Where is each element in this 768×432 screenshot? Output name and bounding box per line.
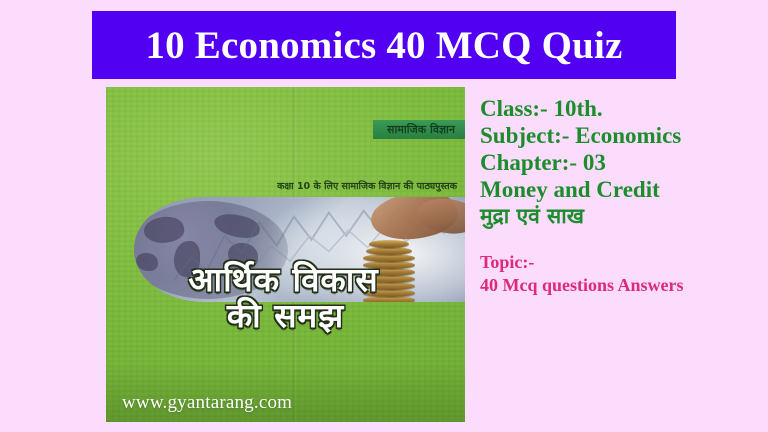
cover-subtitle: कक्षा 10 के लिए सामाजिक विज्ञान की पाठ्य… bbox=[106, 179, 457, 192]
info-line-chapter: Chapter:- 03 bbox=[480, 149, 764, 176]
info-line-chapter-name: Money and Credit bbox=[480, 176, 764, 203]
cover-subject-label: सामाजिक विज्ञान bbox=[387, 122, 455, 137]
topic-block: Topic:- 40 Mcq questions Answers bbox=[480, 251, 764, 296]
topic-value: 40 Mcq questions Answers bbox=[480, 274, 764, 297]
cover-subject-band: सामाजिक विज्ञान bbox=[373, 120, 465, 139]
coin-icon bbox=[369, 240, 409, 248]
book-cover-image: सामाजिक विज्ञान कक्षा 10 के लिए सामाजिक … bbox=[106, 87, 465, 422]
coin-icon bbox=[366, 247, 412, 255]
cover-title: आर्थिक विकास की समझ bbox=[106, 262, 465, 333]
info-line-subject: Subject:- Economics bbox=[480, 122, 764, 149]
info-line-chapter-name-hindi: मुद्रा एवं साख bbox=[480, 204, 764, 230]
watermark-url: www.gyantarang.com bbox=[122, 392, 292, 414]
info-line-class: Class:- 10th. bbox=[480, 95, 764, 122]
cover-title-line-1: आर्थिक विकास bbox=[106, 262, 465, 298]
topic-label: Topic:- bbox=[480, 251, 764, 274]
page-title: 10 Economics 40 MCQ Quiz bbox=[145, 26, 622, 65]
poster-canvas: 10 Economics 40 MCQ Quiz सामाजिक विज्ञान… bbox=[0, 0, 768, 432]
title-banner: 10 Economics 40 MCQ Quiz bbox=[92, 11, 676, 79]
info-panel: Class:- 10th. Subject:- Economics Chapte… bbox=[480, 95, 764, 296]
cover-title-line-2: की समझ bbox=[106, 298, 465, 334]
